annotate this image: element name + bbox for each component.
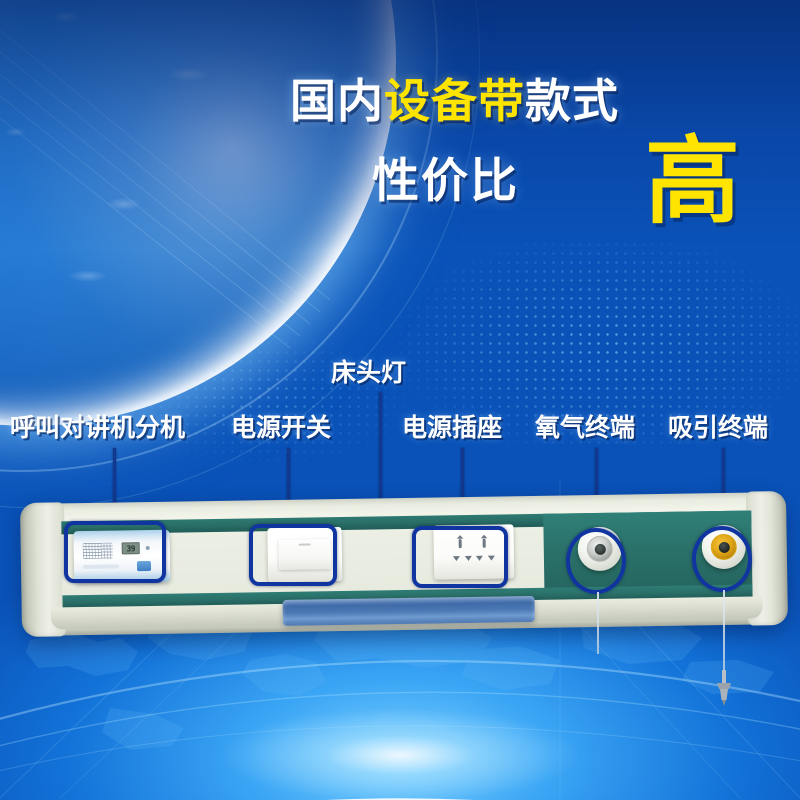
highlight-ring-suction (692, 526, 752, 592)
callout-label-socket: 电源插座 (402, 415, 502, 440)
callout-label-switch: 电源开关 (231, 415, 331, 440)
highlight-box-switch (249, 524, 337, 586)
callout-label-suction: 吸引终端 (668, 415, 768, 440)
headline-text-kuanshi: 款式 (525, 78, 619, 124)
highlight-box-intercom (64, 521, 166, 583)
horizon-glow (150, 690, 650, 800)
highlight-ring-oxygen (566, 528, 626, 594)
suction-hose-fitting-icon (713, 670, 735, 710)
headline-text-shebeidai: 设备带 (384, 78, 525, 124)
callout-label-lamp: 床头灯 (331, 360, 406, 385)
callout-label-oxygen: 氧气终端 (535, 415, 635, 440)
suction-hose-cord (723, 590, 725, 678)
bedside-lamp-diffuser[interactable] (283, 596, 535, 626)
headline-line-1: 国内设备带款式 (290, 78, 670, 124)
callout-label-intercom: 呼叫对讲机分机 (10, 415, 185, 440)
oxygen-hose-cord (597, 592, 599, 654)
headline-emphasis-gao: 高 (645, 135, 740, 230)
halftone-dots-left (120, 330, 420, 470)
promo-banner: 国内设备带款式 性价比 高 呼叫对讲机分机 电源开关 床头灯 电源插座 氧气终端… (0, 0, 800, 800)
highlight-box-socket (412, 526, 508, 588)
headline-text-guonei: 国内 (290, 78, 384, 124)
headline-line-2: 性价比 (372, 158, 519, 205)
